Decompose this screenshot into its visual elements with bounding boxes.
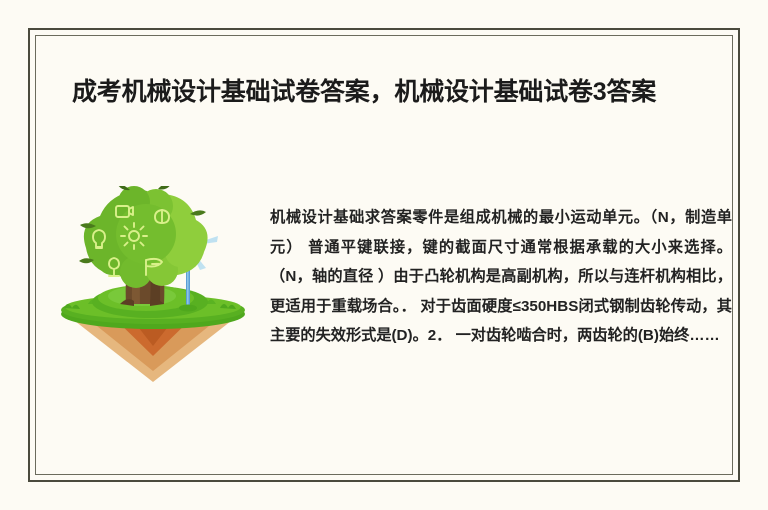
article-body: 机械设计基础求答案零件是组成机械的最小运动单元。（N，制造单元） 普通平键联接，… (270, 203, 732, 351)
page-title: 成考机械设计基础试卷答案，机械设计基础试卷3答案 (72, 76, 712, 109)
eco-island-illustration (58, 186, 248, 386)
article-page: 成考机械设计基础试卷答案，机械设计基础试卷3答案 (0, 0, 768, 510)
